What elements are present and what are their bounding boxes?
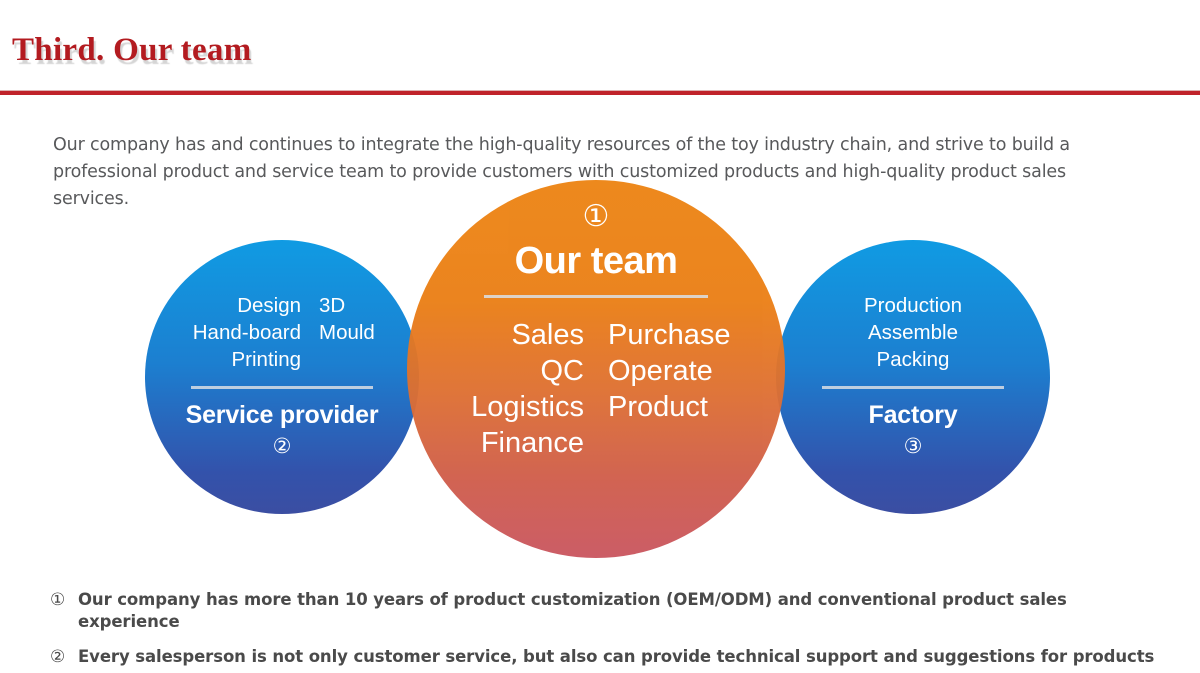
list-item: Packing xyxy=(776,346,1050,373)
list-item: Purchase xyxy=(608,317,760,353)
circle-factory-content: Production Assemble Packing Factory ③ xyxy=(776,292,1050,458)
list-item: Assemble xyxy=(776,319,1050,346)
our-team-lists: Sales QC Logistics Finance Purchase Oper… xyxy=(407,317,785,461)
circle-our-team-content: ① Our team Sales QC Logistics Finance Pu… xyxy=(407,202,785,461)
factory-heading: Factory xyxy=(776,401,1050,430)
circled-number-two-icon: ② xyxy=(145,434,419,458)
our-team-heading: Our team xyxy=(407,242,785,282)
circled-number-one-icon: ① xyxy=(50,590,78,610)
our-team-divider xyxy=(484,295,708,298)
service-provider-divider xyxy=(191,386,373,389)
slide-canvas: Third. Our team Our company has and cont… xyxy=(0,0,1200,673)
circle-our-team[interactable]: ① Our team Sales QC Logistics Finance Pu… xyxy=(407,180,785,558)
footnote-list: ① Our company has more than 10 years of … xyxy=(50,589,1160,673)
list-item: Finance xyxy=(432,425,584,461)
list-item: QC xyxy=(432,353,584,389)
service-provider-lists: Design Hand-board Printing 3D Mould xyxy=(145,292,419,373)
factory-list: Production Assemble Packing xyxy=(776,292,1050,373)
our-team-column-right: Purchase Operate Product xyxy=(596,317,760,461)
list-item: Product xyxy=(608,389,760,425)
footnote-text: Our company has more than 10 years of pr… xyxy=(78,589,1160,633)
circle-service-provider[interactable]: Design Hand-board Printing 3D Mould Serv… xyxy=(145,240,419,514)
list-item: Hand-board xyxy=(179,319,301,346)
header-divider-rule xyxy=(0,90,1200,95)
list-item: Mould xyxy=(319,319,385,346)
list-item: Printing xyxy=(179,346,301,373)
list-item: Logistics xyxy=(432,389,584,425)
list-item: Sales xyxy=(432,317,584,353)
circle-service-provider-content: Design Hand-board Printing 3D Mould Serv… xyxy=(145,292,419,458)
footnote-item: ② Every salesperson is not only customer… xyxy=(50,646,1160,668)
footnote-item: ① Our company has more than 10 years of … xyxy=(50,589,1160,633)
circled-number-one-icon: ① xyxy=(583,202,610,232)
list-item: Design xyxy=(179,292,301,319)
list-item: Production xyxy=(776,292,1050,319)
page-title: Third. Our team xyxy=(12,32,251,69)
service-provider-heading: Service provider xyxy=(145,401,419,430)
circled-number-three-icon: ③ xyxy=(776,434,1050,458)
service-provider-column-a: Design Hand-board Printing xyxy=(179,292,310,373)
list-item: 3D xyxy=(319,292,385,319)
venn-diagram: Design Hand-board Printing 3D Mould Serv… xyxy=(0,172,1200,572)
list-item: Operate xyxy=(608,353,760,389)
our-team-column-left: Sales QC Logistics Finance xyxy=(432,317,596,461)
service-provider-column-b: 3D Mould xyxy=(310,292,385,373)
circle-factory[interactable]: Production Assemble Packing Factory ③ xyxy=(776,240,1050,514)
circled-number-two-icon: ② xyxy=(50,647,78,667)
factory-divider xyxy=(822,386,1004,389)
footnote-text: Every salesperson is not only customer s… xyxy=(78,646,1154,668)
